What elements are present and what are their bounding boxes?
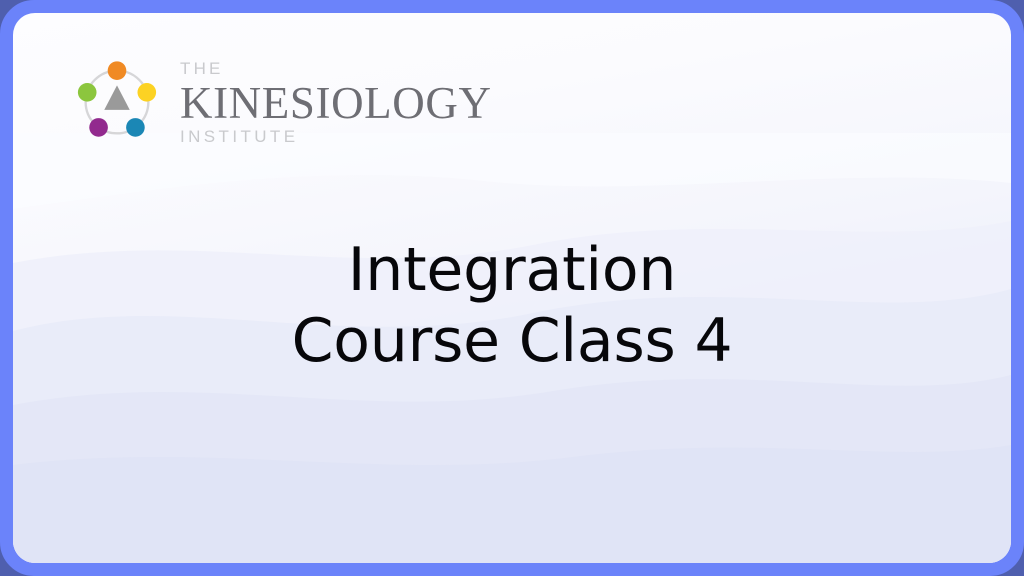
slide-title-line-1: Integration bbox=[73, 235, 951, 306]
wordmark-line-institute: INSTITUTE bbox=[180, 128, 492, 146]
slide-card: THE KINESIOLOGY INSTITUTE Integration Co… bbox=[13, 13, 1011, 563]
slide-stage: THE KINESIOLOGY INSTITUTE Integration Co… bbox=[0, 0, 1024, 576]
kinesiology-circle-triangle-logo-icon bbox=[68, 53, 166, 151]
brand-logo-lockup: THE KINESIOLOGY INSTITUTE bbox=[68, 53, 492, 151]
slide-title-line-2: Course Class 4 bbox=[73, 306, 951, 377]
brand-wordmark: THE KINESIOLOGY INSTITUTE bbox=[180, 58, 492, 146]
wordmark-line-kinesiology: KINESIOLOGY bbox=[180, 80, 492, 127]
slide-title: Integration Course Class 4 bbox=[13, 235, 1011, 377]
wordmark-line-the: THE bbox=[180, 60, 492, 78]
